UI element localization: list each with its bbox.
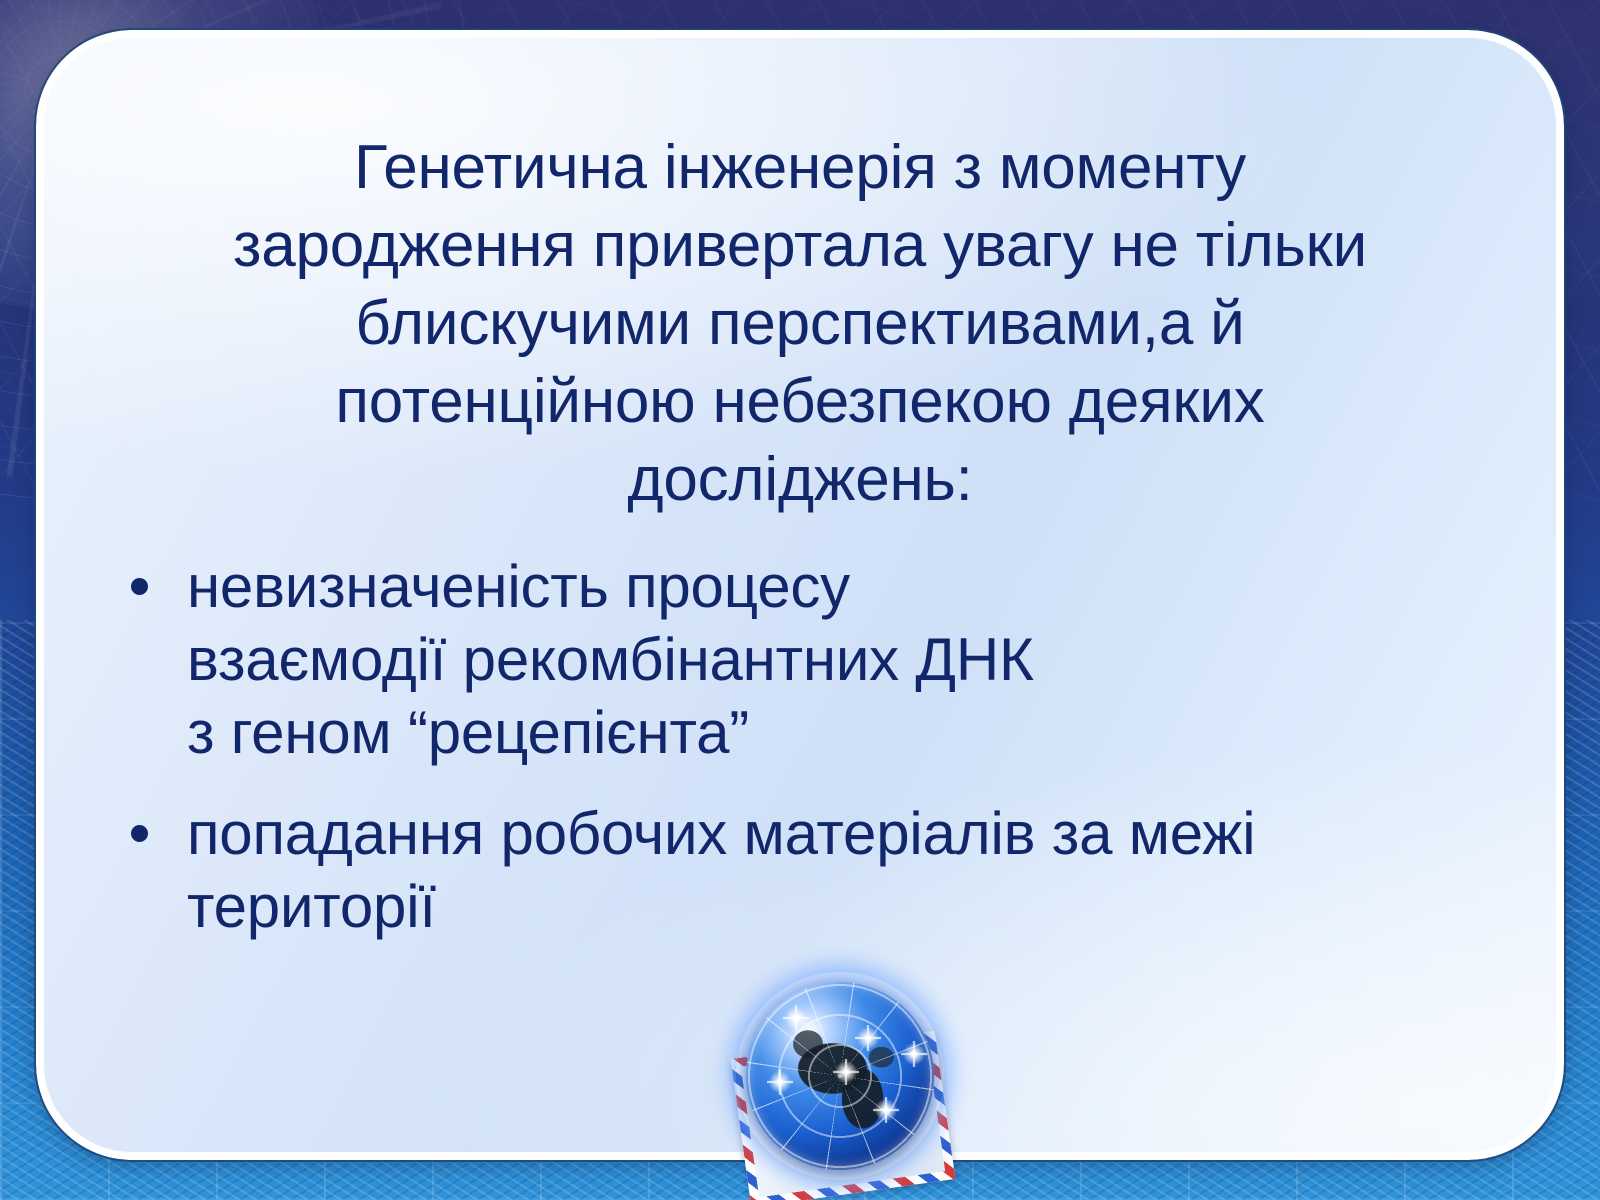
title-line: Генетична інженерія з моменту <box>115 129 1485 207</box>
list-item-line: попадання робочих матеріалів за межі <box>187 797 1485 870</box>
title-line: зародження привертала увагу не тільки <box>115 207 1485 285</box>
title-line: блискучими перспективами,а й <box>115 285 1485 363</box>
globe-network-lines <box>746 982 934 1170</box>
list-item-line: території <box>187 870 1485 943</box>
bullet-dot-icon <box>131 825 148 842</box>
slide-canvas: Генетична інженерія з моменту зародження… <box>0 0 1600 1200</box>
title-line: досліджень: <box>115 441 1485 519</box>
list-item: попадання робочих матеріалів за межі тер… <box>115 797 1485 943</box>
list-item-line: невизначеність процесу <box>187 550 1485 623</box>
globe-icon <box>746 982 934 1170</box>
page-title: Генетична інженерія з моменту зародження… <box>115 129 1485 520</box>
panel-content: Генетична інженерія з моменту зародження… <box>43 37 1557 943</box>
bullet-list: невизначеність процесу взаємодії рекомбі… <box>115 550 1485 944</box>
list-item-line: з геном “рецепієнта” <box>187 696 1485 769</box>
title-line: потенційною небезпекою деяких <box>115 363 1485 441</box>
globe-envelope-graphic <box>718 966 968 1200</box>
list-item-line: взаємодії рекомбінантних ДНК <box>187 623 1485 696</box>
bullet-dot-icon <box>131 578 148 595</box>
list-item: невизначеність процесу взаємодії рекомбі… <box>115 550 1485 770</box>
